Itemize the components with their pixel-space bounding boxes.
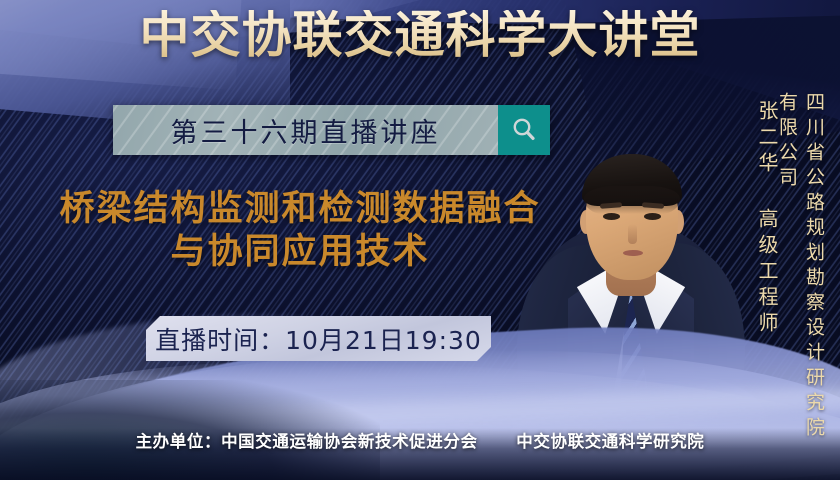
session-banner: 第三十六期直播讲座 — [113, 105, 550, 155]
speaker-organization: 四川省公路规划勘察设计研究院有限公司 — [774, 92, 828, 444]
portrait-nose — [628, 224, 637, 244]
portrait-mouth — [623, 250, 643, 256]
organizer-secondary: 中交协联交通科学研究院 — [516, 432, 704, 451]
page-title: 中交协联交通科学大讲堂 — [0, 10, 840, 60]
search-icon[interactable] — [498, 105, 550, 155]
organizer-primary: 主办单位：中国交通运输协会新技术促进分会 — [136, 432, 478, 451]
portrait-hair-fringe — [584, 186, 680, 214]
speaker-name-rank: 张二华 高级工程师 — [753, 100, 782, 350]
broadcast-time-label: 直播时间：10月21日19:30 — [155, 321, 482, 357]
broadcast-time-badge: 直播时间：10月21日19:30 — [146, 316, 491, 361]
session-banner-label: 第三十六期直播讲座 — [171, 111, 441, 150]
lecture-poster: 中交协联交通科学大讲堂 第三十六期直播讲座 桥梁结构监测和检测数据融合 与协同应… — [0, 0, 840, 480]
portrait-eye-right — [644, 213, 661, 220]
organizer-footer: 主办单位：中国交通运输协会新技术促进分会 中交协联交通科学研究院 — [0, 428, 840, 452]
portrait-eye-left — [603, 213, 620, 220]
session-banner-body: 第三十六期直播讲座 — [113, 105, 498, 155]
lecture-title-line1: 桥梁结构监测和检测数据融合 — [59, 189, 540, 229]
lecture-title-line2: 与协同应用技术 — [40, 231, 560, 274]
lecture-title: 桥梁结构监测和检测数据融合 与协同应用技术 — [40, 188, 560, 273]
